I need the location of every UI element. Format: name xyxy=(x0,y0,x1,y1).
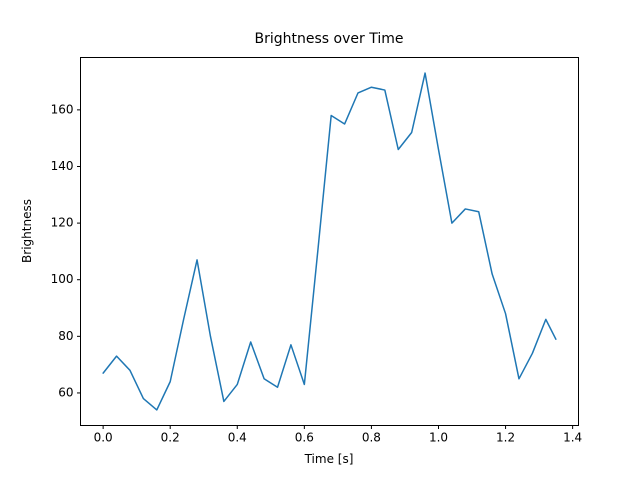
plot-canvas: 0.00.20.40.60.81.01.21.46080100120140160 xyxy=(0,0,640,480)
y-tick-label: 160 xyxy=(51,102,74,116)
x-tick-label: 1.0 xyxy=(429,430,448,444)
x-axis-label: Time [s] xyxy=(80,452,578,466)
y-tick-label: 60 xyxy=(58,385,73,399)
x-tick-label: 0.6 xyxy=(295,430,314,444)
x-tick-label: 0.8 xyxy=(362,430,381,444)
y-tick-label: 140 xyxy=(51,159,74,173)
y-tick-label: 100 xyxy=(51,272,74,286)
x-tick-label: 1.2 xyxy=(496,430,515,444)
x-tick-label: 1.4 xyxy=(563,430,582,444)
x-tick-label: 0.2 xyxy=(161,430,180,444)
axes-group xyxy=(81,58,579,426)
y-axis-label: Brightness xyxy=(20,131,34,331)
y-tick-label: 80 xyxy=(58,329,73,343)
y-tick-label: 120 xyxy=(51,216,74,230)
chart-figure: Brightness over Time 0.00.20.40.60.81.01… xyxy=(0,0,640,480)
x-tick-label: 0.0 xyxy=(94,430,113,444)
plot-frame xyxy=(81,58,579,426)
x-tick-label: 0.4 xyxy=(228,430,247,444)
